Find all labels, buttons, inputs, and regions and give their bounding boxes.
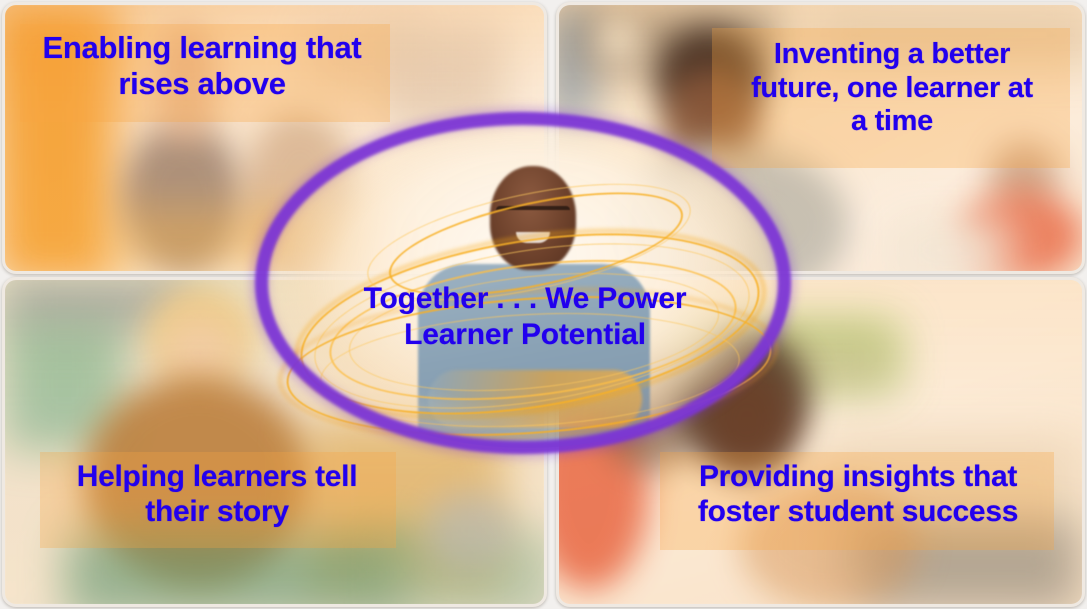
collage-graphic: Enabling learning that rises above Inven… [0,0,1087,609]
caption-top-right: Inventing a better future, one learner a… [722,38,1062,139]
center-headline-line1: Together . . . We Power [305,281,745,317]
caption-top-left: Enabling learning that rises above [28,30,376,102]
caption-top-left-line1: Enabling learning that [28,30,376,66]
caption-bottom-left: Helping learners tell their story [52,460,382,530]
caption-bottom-right-line2: foster student success [672,495,1044,530]
caption-bottom-left-line2: their story [52,495,382,530]
caption-bottom-right: Providing insights that foster student s… [672,460,1044,530]
center-headline: Together . . . We Power Learner Potentia… [305,281,745,353]
caption-bottom-right-line1: Providing insights that [672,460,1044,495]
center-headline-line2: Learner Potential [305,317,745,353]
caption-top-right-line3: a time [722,105,1062,139]
caption-top-right-line1: Inventing a better [722,38,1062,72]
caption-top-left-line2: rises above [28,66,376,102]
caption-top-right-line2: future, one learner at [722,72,1062,106]
caption-bottom-left-line1: Helping learners tell [52,460,382,495]
